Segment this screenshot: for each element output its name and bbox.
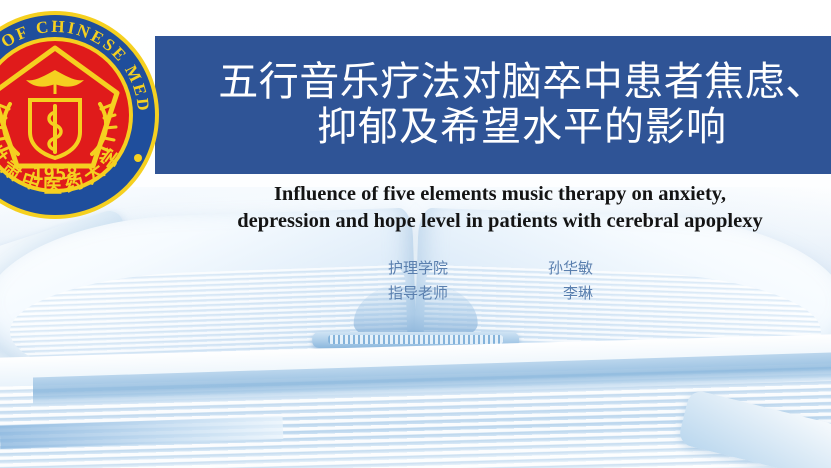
- seal-dot-right: [134, 154, 142, 162]
- author-name-label: 孙华敏: [548, 256, 593, 281]
- slide-title-cn-line-1: 五行音乐疗法对脑卒中患者焦虑、: [213, 60, 831, 105]
- presentation-slide: 五行音乐疗法对脑卒中患者焦虑、 抑郁及希望水平的影响 Influence of …: [0, 0, 831, 468]
- slide-subtitle-en-line-2: depression and hope level in patients wi…: [155, 208, 831, 235]
- author-row: 指导老师 李琳: [388, 281, 593, 306]
- advisor-role-label: 指导老师: [388, 281, 448, 306]
- university-seal-logo: UNIVERSITY OF CHINESE MEDICINE 甘肃中医药大学: [0, 8, 162, 222]
- seal-year: 1958: [32, 163, 78, 185]
- advisor-name-label: 李琳: [563, 281, 593, 306]
- author-row: 护理学院 孙华敏: [388, 256, 593, 281]
- slide-title-cn-line-2: 抑郁及希望水平的影响: [213, 105, 831, 150]
- slide-subtitle-en-line-1: Influence of five elements music therapy…: [155, 181, 831, 208]
- author-role-label: 护理学院: [388, 256, 448, 281]
- title-banner: 五行音乐疗法对脑卒中患者焦虑、 抑郁及希望水平的影响: [155, 36, 831, 174]
- slide-subtitle-en: Influence of five elements music therapy…: [155, 181, 831, 235]
- author-block: 护理学院 孙华敏 指导老师 李琳: [388, 256, 593, 306]
- slide-title-cn: 五行音乐疗法对脑卒中患者焦虑、 抑郁及希望水平的影响: [155, 60, 831, 150]
